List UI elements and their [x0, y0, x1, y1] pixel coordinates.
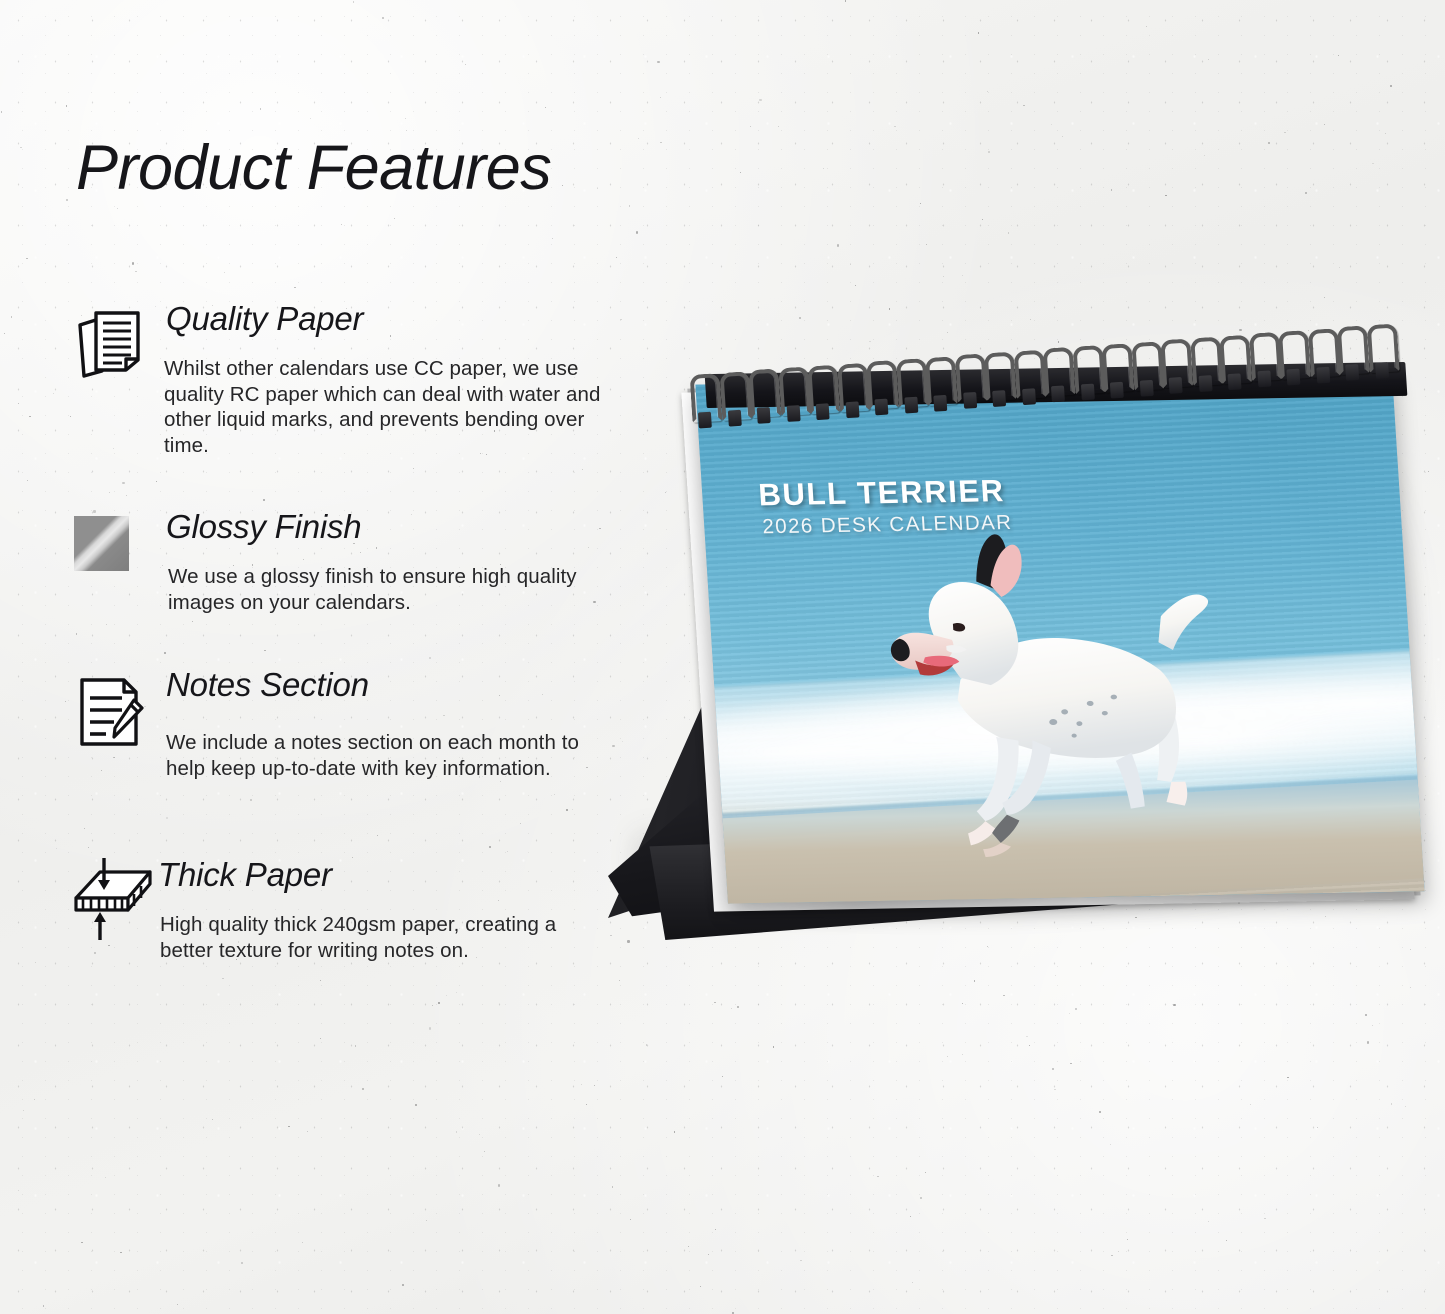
spiral-ring-tail — [1139, 379, 1153, 396]
spiral-ring-tail — [963, 392, 977, 409]
feature-body: Whilst other calendars use CC paper, we … — [164, 356, 616, 458]
spiral-ring-tail — [904, 397, 918, 414]
spiral-ring-tail — [1110, 382, 1124, 399]
spiral-ring — [1190, 336, 1223, 386]
spiral-ring — [690, 373, 723, 423]
spiral-ring — [778, 367, 811, 417]
spiral-ring — [1101, 343, 1134, 393]
spiral-ring — [1337, 326, 1370, 376]
spiral-ring-tail — [1051, 386, 1065, 403]
spiral-ring-tail — [698, 412, 712, 429]
spiral-ring — [1366, 324, 1399, 374]
bull-terrier-photo-subject — [855, 522, 1306, 859]
spiral-ring — [925, 356, 958, 406]
spiral-ring — [807, 364, 840, 414]
documents-stack-icon — [70, 298, 162, 390]
spiral-ring — [1131, 341, 1164, 391]
spiral-ring — [719, 371, 752, 421]
spiral-ring-tail — [1080, 384, 1094, 401]
spiral-ring — [1278, 330, 1311, 380]
cover-title: BULL TERRIER — [757, 473, 1005, 513]
spiral-ring-tail — [1286, 369, 1300, 386]
gloss-gradient-square — [74, 516, 129, 571]
feature-body: High quality thick 240gsm paper, creatin… — [160, 912, 612, 963]
cover-subtitle: 2026 DESK CALENDAR — [762, 511, 1013, 539]
spiral-ring — [895, 358, 928, 408]
spiral-ring — [984, 352, 1017, 402]
spiral-ring-tail — [1345, 364, 1359, 381]
desk-calendar-mockup: BULL TERRIER 2026 DESK CALENDAR — [590, 320, 1420, 960]
spiral-ring — [1249, 332, 1282, 382]
spiral-ring-tail — [1198, 375, 1212, 392]
spiral-ring — [1307, 328, 1340, 378]
feature-title: Quality Paper — [166, 300, 363, 338]
spiral-ring — [1072, 345, 1105, 395]
spiral-ring-tail — [1169, 377, 1183, 394]
feature-body: We include a notes section on each month… — [166, 730, 618, 781]
spiral-ring — [1043, 347, 1076, 397]
page-title: Product Features — [76, 132, 551, 204]
feature-title: Notes Section — [166, 666, 369, 704]
spiral-ring — [954, 354, 987, 404]
glossy-swatch-icon — [70, 508, 162, 600]
spiral-ring-tail — [1316, 366, 1330, 383]
features-column: Product Features Quality Paper — [0, 0, 640, 1314]
spiral-ring-tail — [845, 401, 859, 418]
feature-title: Thick Paper — [158, 856, 332, 894]
spiral-ring-tail — [1257, 371, 1271, 388]
spiral-ring-tail — [874, 399, 888, 416]
spiral-ring-tail — [933, 394, 947, 411]
spiral-ring-tail — [816, 403, 830, 420]
spiral-ring-tail — [757, 407, 771, 424]
spiral-ring — [1160, 339, 1193, 389]
spiral-ring-tail — [992, 390, 1006, 407]
spiral-ring — [748, 369, 781, 419]
feature-body: We use a glossy finish to ensure high qu… — [168, 564, 620, 615]
spiral-ring-tail — [1022, 388, 1036, 405]
spiral-ring — [1219, 334, 1252, 384]
spiral-ring-tail — [1228, 373, 1242, 390]
feature-title: Glossy Finish — [166, 508, 361, 546]
spiral-ring — [837, 362, 870, 412]
spiral-ring — [866, 360, 899, 410]
spiral-ring-tail — [1375, 362, 1389, 379]
spiral-ring-tail — [727, 410, 741, 427]
note-and-pencil-icon — [70, 666, 162, 758]
thick-paper-slab-icon — [70, 854, 162, 946]
spiral-ring — [1013, 349, 1046, 399]
spiral-ring-tail — [786, 405, 800, 422]
calendar-cover: BULL TERRIER 2026 DESK CALENDAR — [695, 372, 1424, 903]
